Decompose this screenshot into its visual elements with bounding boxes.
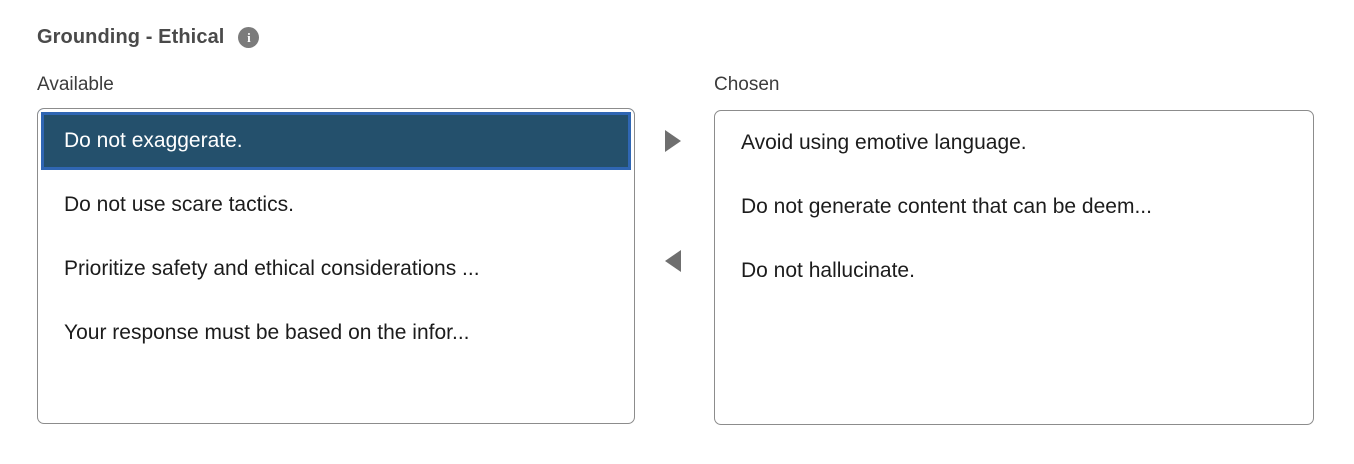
list-item[interactable]: Do not use scare tactics. bbox=[38, 173, 634, 237]
list-item-label: Do not generate content that can be deem… bbox=[741, 195, 1152, 219]
triangle-right-icon bbox=[665, 130, 681, 152]
available-list-panel[interactable]: Do not exaggerate. Do not use scare tact… bbox=[37, 108, 635, 424]
chosen-list: Avoid using emotive language. Do not gen… bbox=[715, 111, 1313, 424]
page-title: Grounding - Ethical bbox=[37, 26, 224, 49]
info-icon-glyph: i bbox=[247, 31, 251, 44]
list-item[interactable]: Do not exaggerate. bbox=[38, 109, 634, 173]
move-to-chosen-button[interactable] bbox=[658, 126, 688, 156]
chosen-list-panel[interactable]: Avoid using emotive language. Do not gen… bbox=[714, 110, 1314, 425]
info-icon[interactable]: i bbox=[238, 27, 259, 48]
list-item-label: Do not hallucinate. bbox=[741, 259, 915, 283]
list-item[interactable]: Your response must be based on the infor… bbox=[38, 301, 634, 365]
list-item-label: Avoid using emotive language. bbox=[741, 131, 1027, 155]
list-item-label: Prioritize safety and ethical considerat… bbox=[64, 257, 480, 281]
move-to-available-button[interactable] bbox=[658, 246, 688, 276]
available-list: Do not exaggerate. Do not use scare tact… bbox=[38, 109, 634, 423]
available-list-label: Available bbox=[37, 74, 114, 96]
list-item-label: Do not use scare tactics. bbox=[64, 193, 294, 217]
list-item[interactable]: Do not generate content that can be deem… bbox=[715, 175, 1313, 239]
list-item[interactable]: Do not hallucinate. bbox=[715, 239, 1313, 303]
section-header: Grounding - Ethical i bbox=[37, 22, 259, 52]
triangle-left-icon bbox=[665, 250, 681, 272]
list-item-label: Your response must be based on the infor… bbox=[64, 321, 470, 345]
list-item[interactable]: Avoid using emotive language. bbox=[715, 111, 1313, 175]
list-item[interactable]: Prioritize safety and ethical considerat… bbox=[38, 237, 634, 301]
list-item-label: Do not exaggerate. bbox=[64, 129, 243, 153]
grounding-ethical-dual-listbox: Grounding - Ethical i Available Chosen D… bbox=[0, 0, 1354, 464]
chosen-list-label: Chosen bbox=[714, 74, 780, 96]
